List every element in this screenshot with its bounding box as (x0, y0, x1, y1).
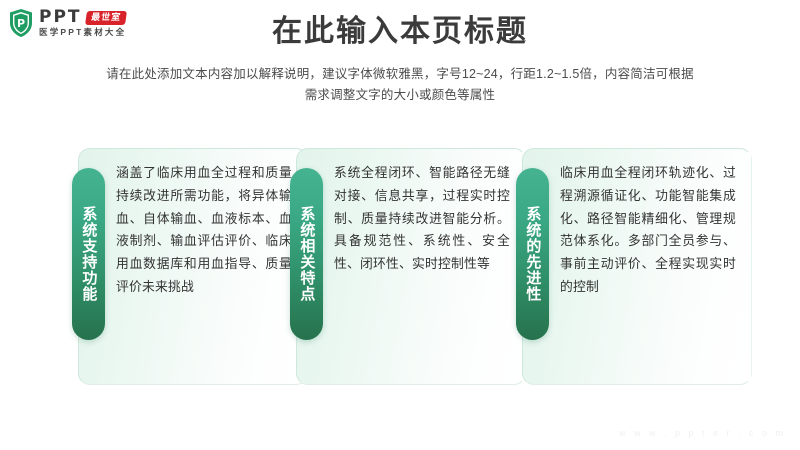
card-body-text: 涵盖了临床用血全过程和质量持续改进所需功能，将异体输血、自体输血、血液标本、血液… (116, 162, 292, 299)
card-label-text: 系统的先进性 (524, 206, 542, 302)
card-label-text: 系统支持功能 (80, 206, 98, 302)
card-label-pill: 系统的先进性 (516, 168, 549, 340)
card-label-pill: 系统支持功能 (72, 168, 105, 340)
card-body-text: 系统全程闭环、智能路径无缝对接、信息共享，过程实时控制、质量持续改进智能分析。具… (334, 162, 510, 276)
card-label-pill: 系统相关特点 (290, 168, 323, 340)
card-body-text: 临床用血全程闭环轨迹化、过程溯源循证化、功能智能集成化、路径智能精细化、管理规范… (560, 162, 736, 299)
site-watermark: w w w . p p t e r . c o m (619, 428, 786, 438)
page-title: 在此输入本页标题 (0, 14, 800, 50)
info-card[interactable]: 系统相关特点 系统全程闭环、智能路径无缝对接、信息共享，过程实时控制、质量持续改… (290, 148, 526, 385)
page-subtitle: 请在此处添加文本内容加以解释说明，建议字体微软雅黑，字号12~24，行距1.2~… (100, 64, 700, 105)
info-card[interactable]: 系统的先进性 临床用血全程闭环轨迹化、过程溯源循证化、功能智能集成化、路径智能精… (516, 148, 752, 385)
card-label-text: 系统相关特点 (298, 206, 316, 302)
card-group: 系统支持功能 涵盖了临床用血全过程和质量持续改进所需功能，将异体输血、自体输血、… (0, 148, 800, 388)
info-card[interactable]: 系统支持功能 涵盖了临床用血全过程和质量持续改进所需功能，将异体输血、自体输血、… (72, 148, 308, 385)
